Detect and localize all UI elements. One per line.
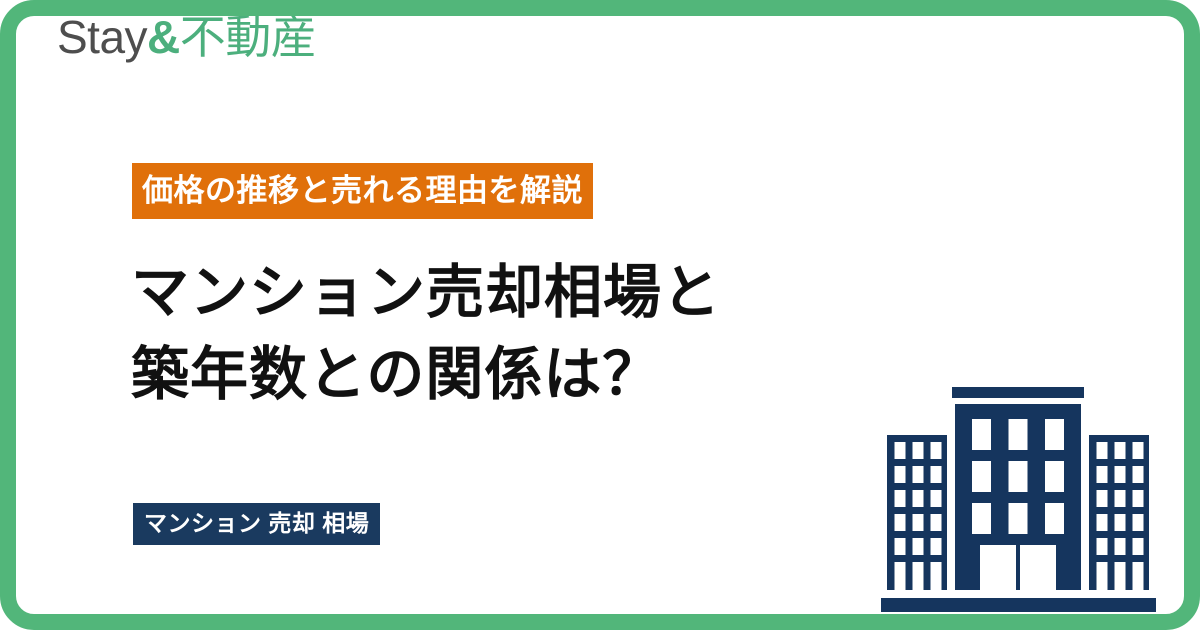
- og-image-canvas: Stay&不動産 価格の推移と売れる理由を解説 マンション売却相場と 築年数との…: [0, 0, 1200, 630]
- logo-text-stay: Stay: [57, 11, 147, 63]
- logo-text-japanese: 不動産: [180, 11, 317, 63]
- kicker-badge: 価格の推移と売れる理由を解説: [132, 163, 593, 219]
- center-tower: [955, 404, 1081, 590]
- keyword-tag: マンション 売却 相場: [133, 503, 380, 545]
- apartment-buildings-illustration: [868, 380, 1168, 620]
- left-building: [887, 435, 947, 590]
- roof-bar: [952, 387, 1084, 398]
- page-title-line-1: マンション売却相場と: [131, 252, 721, 334]
- page-title-line-2: 築年数との関係は？: [131, 334, 721, 416]
- ground-base: [881, 598, 1156, 612]
- right-building: [1089, 435, 1149, 590]
- site-logo[interactable]: Stay&不動産: [57, 9, 316, 65]
- page-title: マンション売却相場と 築年数との関係は？: [131, 252, 721, 416]
- logo-ampersand: &: [147, 11, 180, 63]
